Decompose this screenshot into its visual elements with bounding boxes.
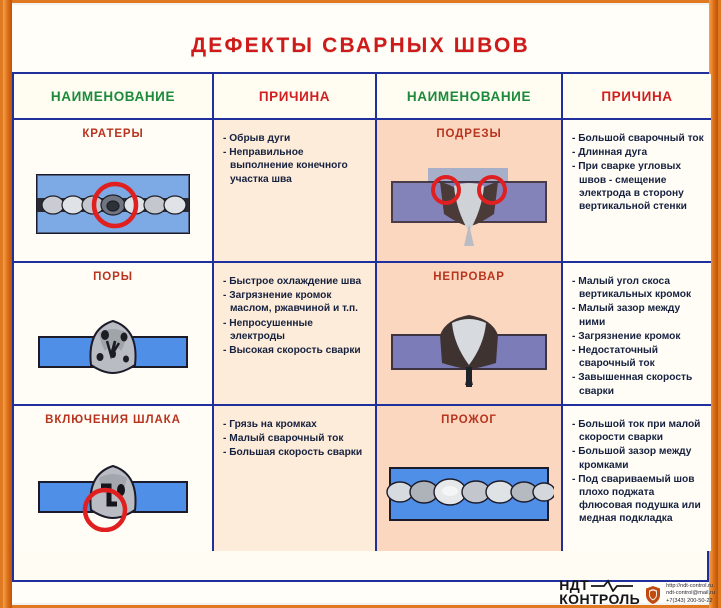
figure-undercut	[377, 146, 561, 261]
figure-porosity	[14, 289, 212, 404]
cause-item: Загрязнение кромок маслом, ржавчиной и т…	[223, 289, 369, 315]
cause-item: Под свариваемый шов плохо поджата флюсов…	[572, 473, 705, 526]
cause-list: Большой сварочный ток Длинная дуга При с…	[572, 132, 705, 213]
cause-item: Большая скорость сварки	[223, 446, 369, 459]
email-link[interactable]: ndt-control@mail.ru	[666, 590, 715, 597]
contact-info: http://ndt-control.ru ndt-control@mail.r…	[666, 583, 715, 606]
cause-item: Недостаточный сварочный ток	[572, 344, 705, 370]
cause-item: Загрязнение кромок	[572, 330, 705, 343]
logo-line2-text: КОНТРОЛЬ	[559, 592, 640, 606]
cause-item: Высокая скорость сварки	[223, 344, 369, 357]
column-header-cause-left: ПРИЧИНА	[214, 74, 377, 120]
cause-item: Завышенная скорость сварки	[572, 371, 705, 397]
table-row: ПРОЖОГ	[377, 406, 563, 551]
figure-slag-inclusion	[14, 432, 212, 551]
logo-line1-text: НДТ	[559, 578, 589, 592]
cause-list: Малый угол скоса вертикальных кромок Мал…	[572, 275, 705, 398]
cause-item: Непросушенные электроды	[223, 317, 369, 343]
cause-cell-vklyucheniya-shlaka: Грязь на кромках Малый сварочный ток Бол…	[214, 406, 377, 551]
defect-name-vklyucheniya-shlaka: ВКЛЮЧЕНИЯ ШЛАКА	[45, 414, 181, 426]
defect-name-pory: ПОРЫ	[93, 271, 133, 283]
cause-cell-pory: Быстрое охлаждение шва Загрязнение кромо…	[214, 263, 377, 406]
cause-item: Грязь на кромках	[223, 418, 369, 431]
column-header-name-right: НАИМЕНОВАНИЕ	[377, 74, 563, 120]
shield-icon	[645, 585, 661, 605]
cause-cell-prozhog: Большой ток при малой скорости сварки Бо…	[563, 406, 711, 551]
cause-item: Малый угол скоса вертикальных кромок	[572, 275, 705, 301]
defects-table: НАИМЕНОВАНИЕ ПРИЧИНА НАИМЕНОВАНИЕ ПРИЧИН…	[12, 72, 709, 582]
cause-item: Неправильное выполнение конечного участк…	[223, 146, 369, 186]
table-row: КРАТЕРЫ	[14, 120, 214, 263]
cause-item: Малый сварочный ток	[223, 432, 369, 445]
table-row: ВКЛЮЧЕНИЯ ШЛАКА	[14, 406, 214, 551]
cause-item: Обрыв дуги	[223, 132, 369, 145]
cause-item: Большой ток при малой скорости сварки	[572, 418, 705, 444]
defect-name-neprovar: НЕПРОВАР	[433, 271, 505, 283]
cause-cell-neprovar: Малый угол скоса вертикальных кромок Мал…	[563, 263, 711, 406]
figure-burn-through	[377, 432, 561, 551]
figure-crater	[14, 146, 212, 261]
cause-list: Обрыв дуги Неправильное выполнение конеч…	[223, 132, 369, 186]
defect-name-kratery: КРАТЕРЫ	[82, 128, 143, 140]
page-title: ДЕФЕКТЫ СВАРНЫХ ШВОВ	[12, 24, 709, 68]
cause-list: Большой ток при малой скорости сварки Бо…	[572, 418, 705, 526]
defect-name-podrezy: ПОДРЕЗЫ	[436, 128, 501, 140]
cause-item: Большой сварочный ток	[572, 132, 705, 145]
table-row: ПОДРЕЗЫ	[377, 120, 563, 263]
left-orange-stripe	[3, 0, 12, 608]
logo-wordmark: НДТ КОНТРОЛЬ	[559, 578, 640, 606]
cause-list: Грязь на кромках Малый сварочный ток Бол…	[223, 418, 369, 460]
defect-name-prozhog: ПРОЖОГ	[441, 414, 497, 426]
cause-item: Большой зазор между кромками	[572, 445, 705, 471]
cause-item: Быстрое охлаждение шва	[223, 275, 369, 288]
cause-item: Длинная дуга	[572, 146, 705, 159]
ndt-control-logo[interactable]: НДТ КОНТРОЛЬ http://ndt-control.ru ndt-c…	[559, 578, 715, 606]
cause-list: Быстрое охлаждение шва Загрязнение кромо…	[223, 275, 369, 357]
cause-item: При сварке угловых швов - смещение элект…	[572, 160, 705, 213]
column-header-cause-right: ПРИЧИНА	[563, 74, 711, 120]
cause-item: Малый зазор между ними	[572, 302, 705, 328]
welding-defects-poster: ДЕФЕКТЫ СВАРНЫХ ШВОВ НАИМЕНОВАНИЕ ПРИЧИН…	[0, 0, 721, 608]
column-header-name-left: НАИМЕНОВАНИЕ	[14, 74, 214, 120]
phone-number: +7(343) 200-50-22	[666, 598, 715, 605]
cause-cell-kratery: Обрыв дуги Неправильное выполнение конеч…	[214, 120, 377, 263]
figure-lack-of-penetration	[377, 289, 561, 404]
table-row: ПОРЫ	[14, 263, 214, 406]
cause-cell-podrezy: Большой сварочный ток Длинная дуга При с…	[563, 120, 711, 263]
website-link[interactable]: http://ndt-control.ru	[666, 583, 715, 590]
waveform-icon	[591, 579, 633, 592]
table-row: НЕПРОВАР	[377, 263, 563, 406]
